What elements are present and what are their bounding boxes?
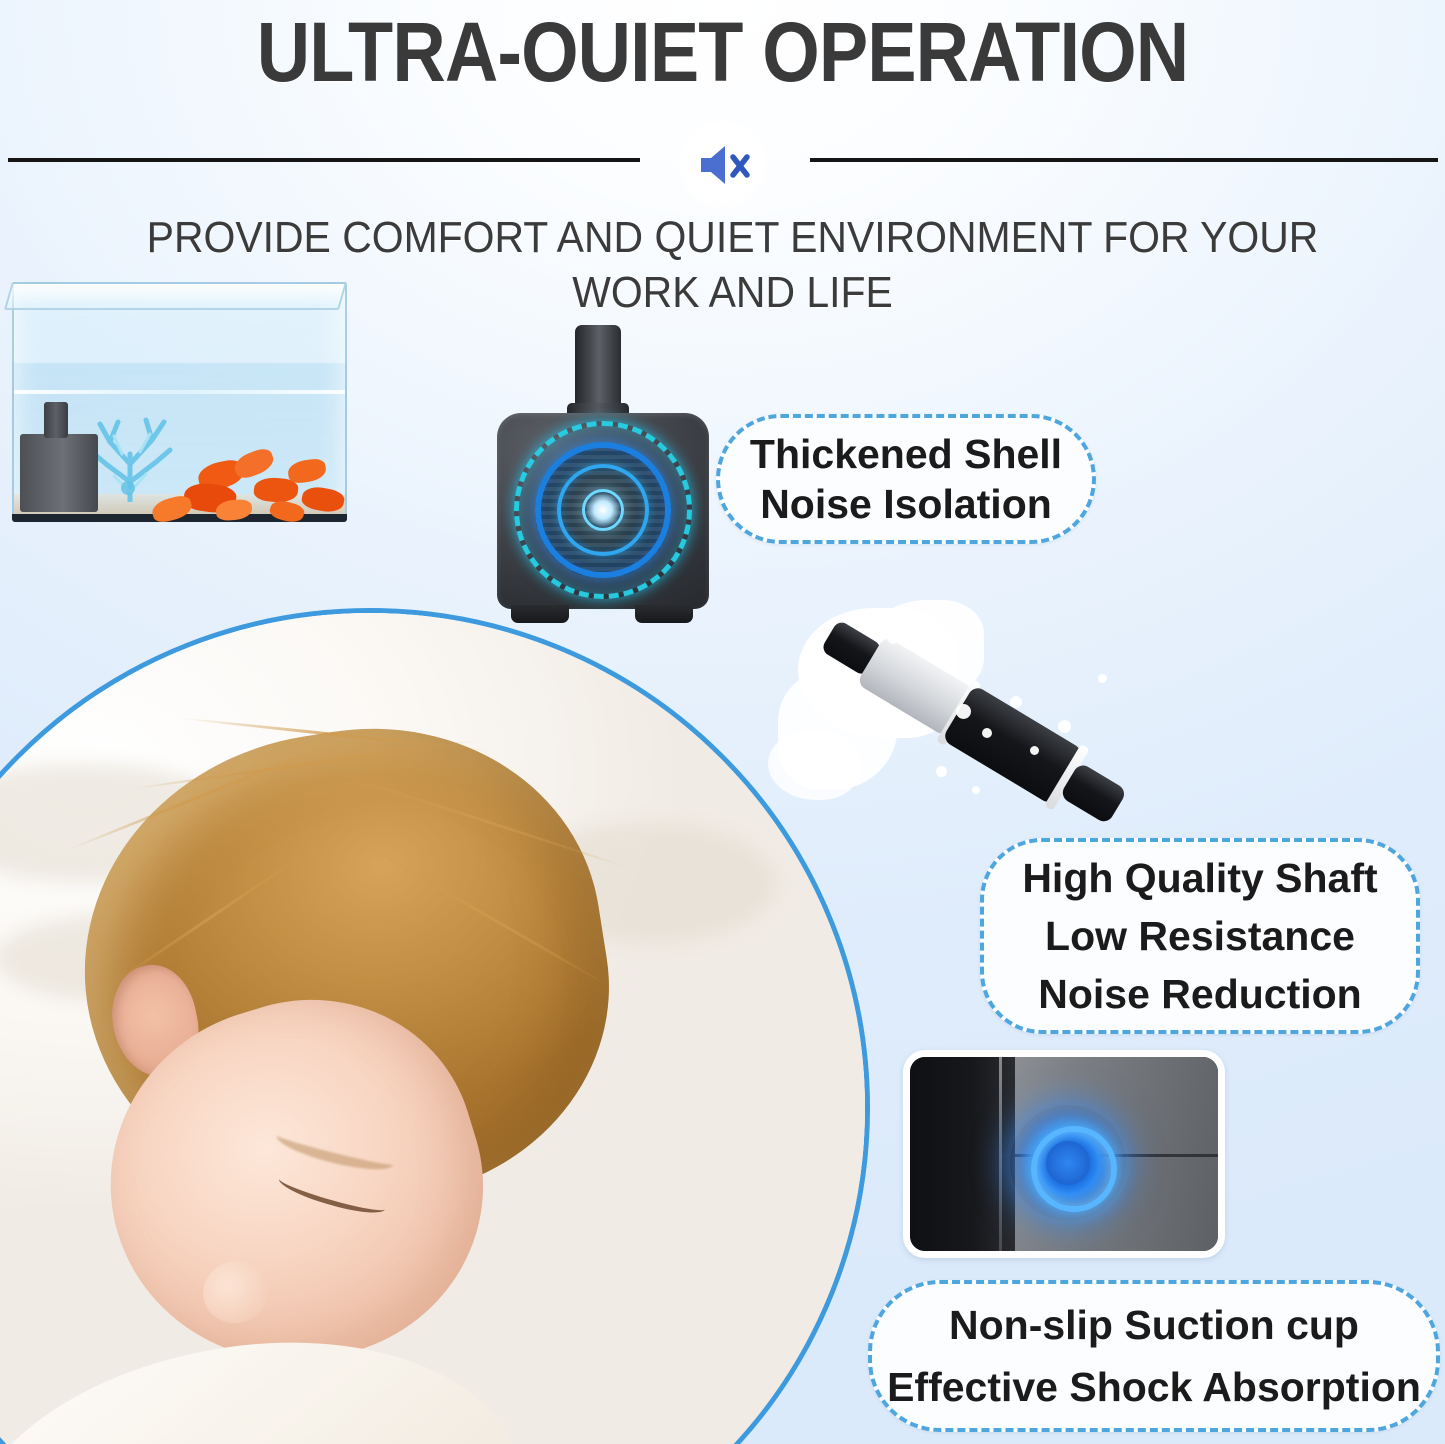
- pump-glow-core: [582, 489, 624, 531]
- mute-badge: [679, 121, 767, 209]
- callout-high-quality-shaft: High Quality Shaft Low Resistance Noise …: [980, 838, 1420, 1034]
- suction-cup-photo: [903, 1050, 1225, 1258]
- callout-thickened-shell: Thickened Shell Noise Isolation: [716, 414, 1096, 544]
- callout-line: Thickened Shell: [750, 429, 1062, 479]
- suction-cup-glow-icon: [1010, 1105, 1126, 1221]
- aquarium-photo: [2, 262, 362, 534]
- callout-line: Noise Reduction: [1038, 965, 1361, 1023]
- mute-speaker-icon: [695, 142, 751, 188]
- page-title: ULTRA-OUIET OPERATION: [87, 2, 1359, 102]
- water-pump-photo: [487, 325, 717, 640]
- header-divider-left: [8, 158, 640, 162]
- callout-line: High Quality Shaft: [1022, 849, 1377, 907]
- callout-line: Low Resistance: [1045, 907, 1355, 965]
- callout-line: Noise Isolation: [760, 479, 1052, 529]
- sleeping-child-photo: [0, 608, 870, 1444]
- header-divider-right: [810, 158, 1438, 162]
- callout-non-slip-suction-cup: Non-slip Suction cup Effective Shock Abs…: [868, 1280, 1440, 1432]
- product-feature-poster: ULTRA-OUIET OPERATION PROVIDE COMFORT AN…: [0, 0, 1445, 1444]
- aquarium-pump-icon: [20, 434, 98, 512]
- callout-line: Non-slip Suction cup: [949, 1294, 1359, 1356]
- callout-line: Effective Shock Absorption: [887, 1356, 1421, 1418]
